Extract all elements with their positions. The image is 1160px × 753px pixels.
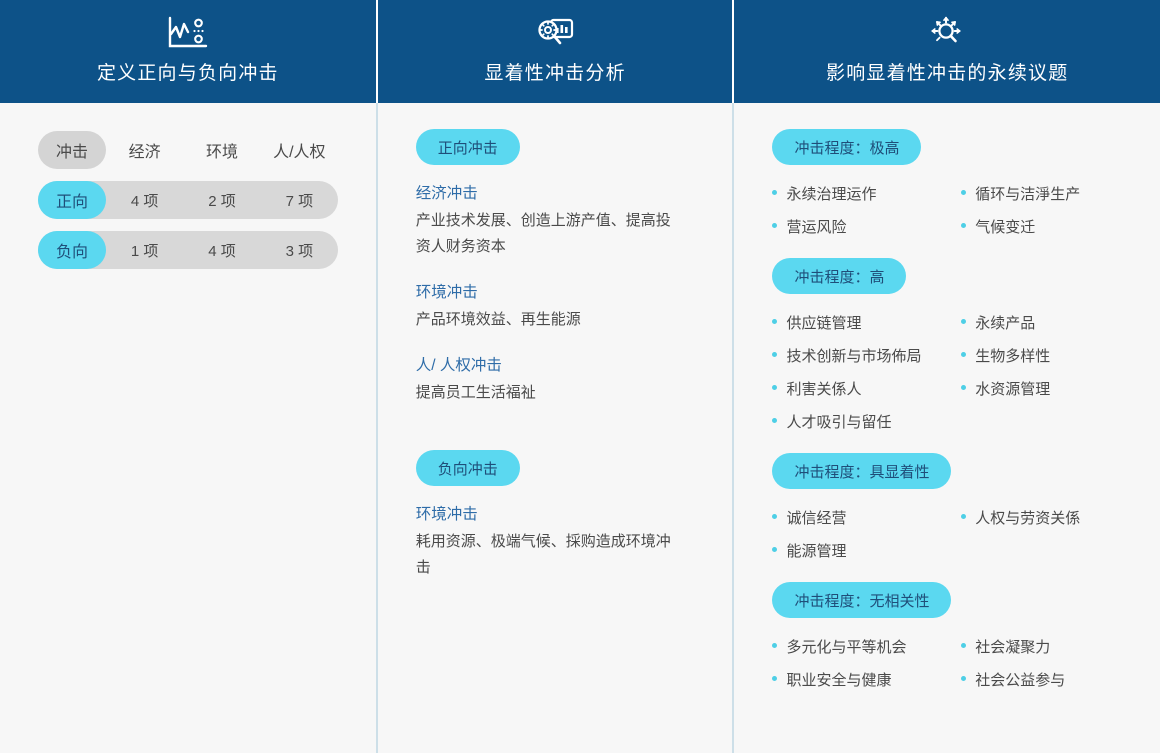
table-header-row: 冲击 经济 环境 人/人权: [38, 131, 338, 169]
magnifier-rays-icon: [926, 14, 968, 52]
analysis-pill-positive[interactable]: 正向冲击: [416, 129, 520, 165]
bullet-dot-icon: [961, 385, 966, 390]
severity-group-high: 冲击程度：高 供应链管理 技术创新与市场佈局 利害关係人 人才吸引与留任 永续产…: [772, 258, 1150, 439]
severity-col-right: 人权与劳资关係: [961, 502, 1150, 568]
severity-col-left: 供应链管理 技术创新与市场佈局 利害关係人 人才吸引与留任: [772, 307, 961, 439]
list-item-label: 气候变迁: [975, 211, 1035, 244]
list-item-label: 永续产品: [975, 307, 1035, 340]
bullet-dot-icon: [961, 514, 966, 519]
list-item: 社会凝聚力: [961, 631, 1150, 664]
analysis-block-economy: 经济冲击 产业技术发展、创造上游产值、提高投资人财务资本: [416, 181, 721, 260]
list-item-label: 诚信经营: [786, 502, 846, 535]
list-item: 诚信经营: [772, 502, 961, 535]
severity-group-significant: 冲击程度：具显着性 诚信经营 能源管理 人权与劳资关係: [772, 453, 1150, 568]
severity-pill-extreme-box: 冲击程度：极高: [772, 129, 1150, 165]
severity-col-right: 永续产品 生物多样性 水资源管理: [961, 307, 1150, 439]
cell-negative-environment: 4 项: [183, 240, 260, 261]
list-item: 技术创新与市场佈局: [772, 340, 961, 373]
list-item: 永续产品: [961, 307, 1150, 340]
analysis-block-environment: 环境冲击 产品环境效益、再生能源: [416, 280, 721, 333]
column-analysis-body: 正向冲击 经济冲击 产业技术发展、创造上游产值、提高投资人财务资本 环境冲击 产…: [378, 103, 733, 753]
severity-pill-high[interactable]: 冲击程度：高: [772, 258, 906, 294]
severity-items-significant: 诚信经营 能源管理 人权与劳资关係: [772, 502, 1150, 568]
severity-col-left: 诚信经营 能源管理: [772, 502, 961, 568]
table-header-label: 冲击: [38, 131, 106, 169]
cell-positive-environment: 2 项: [183, 190, 260, 211]
column-definition: 定义正向与负向冲击 冲击 经济 环境 人/人权 正向 4 项 2 项 7 项 负…: [0, 0, 376, 753]
analysis-text-human-rights: 提高员工生活福祉: [416, 380, 674, 406]
analysis-pill-negative-box: 负向冲击: [416, 450, 721, 486]
analysis-heading-environment: 环境冲击: [416, 280, 721, 302]
table-header-cell-human-rights: 人/人权: [261, 138, 338, 162]
list-item: 职业安全与健康: [772, 664, 961, 697]
column-topics-header: 影响显着性冲击的永续议题: [734, 0, 1160, 103]
severity-col-left: 多元化与平等机会 职业安全与健康: [772, 631, 961, 697]
list-item-label: 供应链管理: [786, 307, 861, 340]
list-item: 永续治理运作: [772, 178, 961, 211]
analysis-heading-human-rights: 人/ 人权冲击: [416, 353, 721, 375]
list-item: 营运风险: [772, 211, 961, 244]
severity-items-none: 多元化与平等机会 职业安全与健康 社会凝聚力 社会公益参与: [772, 631, 1150, 697]
list-item-label: 职业安全与健康: [786, 664, 891, 697]
severity-list: 冲击程度：极高 永续治理运作 营运风险 循环与洁淨生产 气候变迁: [772, 129, 1150, 711]
bullet-dot-icon: [961, 190, 966, 195]
impact-count-table: 冲击 经济 环境 人/人权 正向 4 项 2 项 7 项 负向 1 项 4 项 …: [38, 131, 338, 281]
table-row-negative: 负向 1 项 4 项 3 项: [38, 231, 338, 269]
column-analysis-title: 显着性冲击分析: [484, 58, 625, 85]
list-item: 多元化与平等机会: [772, 631, 961, 664]
analysis-spacer: [416, 426, 721, 450]
chart-analysis-icon: [167, 14, 209, 52]
table-row-positive: 正向 4 项 2 项 7 项: [38, 181, 338, 219]
bullet-dot-icon: [772, 676, 777, 681]
bullet-dot-icon: [772, 643, 777, 648]
bullet-dot-icon: [772, 514, 777, 519]
list-item: 供应链管理: [772, 307, 961, 340]
analysis-block-human-rights: 人/ 人权冲击 提高员工生活福祉: [416, 353, 721, 406]
table-header-cell-environment: 环境: [183, 138, 260, 162]
severity-col-right: 循环与洁淨生产 气候变迁: [961, 178, 1150, 244]
analysis-content: 正向冲击 经济冲击 产业技术发展、创造上游产值、提高投资人财务资本 环境冲击 产…: [416, 129, 721, 601]
column-topics: 影响显着性冲击的永续议题 冲击程度：极高 永续治理运作 营运风险 循环与洁淨: [734, 0, 1160, 753]
bullet-dot-icon: [961, 319, 966, 324]
impact-overview-board: 定义正向与负向冲击 冲击 经济 环境 人/人权 正向 4 项 2 项 7 项 负…: [0, 0, 1160, 753]
list-item-label: 利害关係人: [786, 373, 861, 406]
list-item-label: 循环与洁淨生产: [975, 178, 1080, 211]
analysis-text-economy: 产业技术发展、创造上游产值、提高投资人财务资本: [416, 208, 674, 260]
table-header-cell-economy: 经济: [106, 138, 183, 162]
bullet-dot-icon: [772, 352, 777, 357]
bullet-dot-icon: [961, 643, 966, 648]
list-item-label: 水资源管理: [975, 373, 1050, 406]
list-item-label: 永续治理运作: [786, 178, 876, 211]
list-item-label: 人才吸引与留任: [786, 406, 891, 439]
column-topics-title: 影响显着性冲击的永续议题: [826, 58, 1068, 85]
analysis-text-negative-environment: 耗用资源、极端气候、採购造成环境冲击: [416, 529, 674, 581]
list-item-label: 营运风险: [786, 211, 846, 244]
bullet-dot-icon: [772, 190, 777, 195]
severity-col-left: 永续治理运作 营运风险: [772, 178, 961, 244]
analysis-block-negative-environment: 环境冲击 耗用资源、极端气候、採购造成环境冲击: [416, 502, 721, 581]
table-row-label-positive: 正向: [38, 181, 106, 219]
bullet-dot-icon: [772, 223, 777, 228]
analysis-text-environment: 产品环境效益、再生能源: [416, 307, 674, 333]
list-item-label: 社会公益参与: [975, 664, 1065, 697]
analysis-group-positive: 正向冲击 经济冲击 产业技术发展、创造上游产值、提高投资人财务资本 环境冲击 产…: [416, 129, 721, 406]
bullet-dot-icon: [772, 319, 777, 324]
column-definition-header: 定义正向与负向冲击: [0, 0, 376, 103]
cell-negative-economy: 1 项: [106, 240, 183, 261]
column-analysis: 显着性冲击分析 正向冲击 经济冲击 产业技术发展、创造上游产值、提高投资人财务资…: [378, 0, 733, 753]
bullet-dot-icon: [961, 352, 966, 357]
table-row-label-negative: 负向: [38, 231, 106, 269]
list-item-label: 技术创新与市场佈局: [786, 340, 921, 373]
analysis-heading-economy: 经济冲击: [416, 181, 721, 203]
severity-pill-none[interactable]: 冲击程度：无相关性: [772, 582, 951, 618]
list-item: 社会公益参与: [961, 664, 1150, 697]
severity-pill-none-box: 冲击程度：无相关性: [772, 582, 1150, 618]
bullet-dot-icon: [772, 547, 777, 552]
severity-pill-significant[interactable]: 冲击程度：具显着性: [772, 453, 951, 489]
list-item: 利害关係人: [772, 373, 961, 406]
list-item-label: 生物多样性: [975, 340, 1050, 373]
list-item-label: 能源管理: [786, 535, 846, 568]
severity-group-none: 冲击程度：无相关性 多元化与平等机会 职业安全与健康 社会凝聚力 社会公益参与: [772, 582, 1150, 697]
column-definition-title: 定义正向与负向冲击: [97, 58, 279, 85]
analysis-pill-positive-box: 正向冲击: [416, 129, 721, 165]
severity-items-high: 供应链管理 技术创新与市场佈局 利害关係人 人才吸引与留任 永续产品 生物多样性…: [772, 307, 1150, 439]
severity-group-extreme: 冲击程度：极高 永续治理运作 营运风险 循环与洁淨生产 气候变迁: [772, 129, 1150, 244]
list-item: 水资源管理: [961, 373, 1150, 406]
severity-pill-high-box: 冲击程度：高: [772, 258, 1150, 294]
bullet-dot-icon: [961, 223, 966, 228]
list-item-label: 人权与劳资关係: [975, 502, 1080, 535]
analysis-pill-negative[interactable]: 负向冲击: [416, 450, 520, 486]
severity-col-right: 社会凝聚力 社会公益参与: [961, 631, 1150, 697]
cell-negative-human-rights: 3 项: [261, 240, 338, 261]
list-item-label: 多元化与平等机会: [786, 631, 906, 664]
severity-pill-significant-box: 冲击程度：具显着性: [772, 453, 1150, 489]
analysis-group-negative: 负向冲击 环境冲击 耗用资源、极端气候、採购造成环境冲击: [416, 450, 721, 581]
list-item: 能源管理: [772, 535, 961, 568]
bullet-dot-icon: [772, 385, 777, 390]
list-item: 人权与劳资关係: [961, 502, 1150, 535]
bullet-dot-icon: [961, 676, 966, 681]
list-item: 循环与洁淨生产: [961, 178, 1150, 211]
severity-items-extreme: 永续治理运作 营运风险 循环与洁淨生产 气候变迁: [772, 178, 1150, 244]
list-item: 气候变迁: [961, 211, 1150, 244]
column-topics-body: 冲击程度：极高 永续治理运作 营运风险 循环与洁淨生产 气候变迁: [734, 103, 1160, 753]
cell-positive-economy: 4 项: [106, 190, 183, 211]
bullet-dot-icon: [772, 418, 777, 423]
list-item-label: 社会凝聚力: [975, 631, 1050, 664]
magnifier-chart-icon: [535, 14, 575, 52]
analysis-heading-negative-environment: 环境冲击: [416, 502, 721, 524]
list-item: 人才吸引与留任: [772, 406, 961, 439]
severity-pill-extreme[interactable]: 冲击程度：极高: [772, 129, 921, 165]
cell-positive-human-rights: 7 项: [261, 190, 338, 211]
column-analysis-header: 显着性冲击分析: [378, 0, 733, 103]
list-item: 生物多样性: [961, 340, 1150, 373]
column-definition-body: 冲击 经济 环境 人/人权 正向 4 项 2 项 7 项 负向 1 项 4 项 …: [0, 103, 376, 753]
